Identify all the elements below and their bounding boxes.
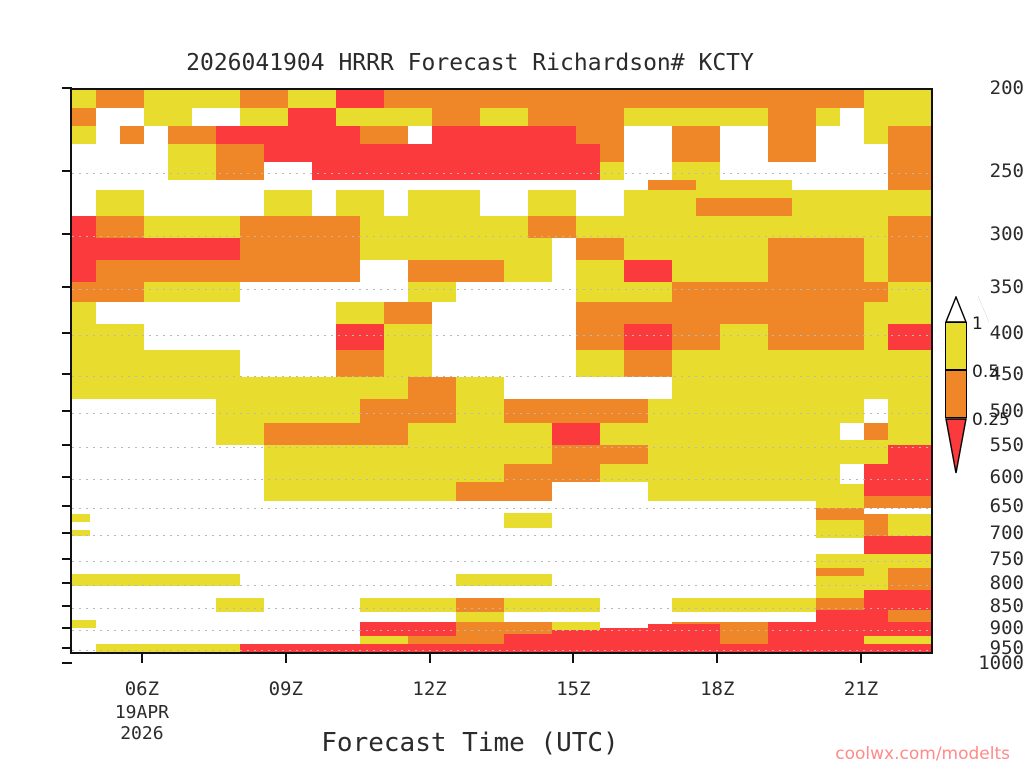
heatmap-cell xyxy=(144,377,192,399)
heatmap-cell xyxy=(360,482,408,501)
heatmap-cell xyxy=(192,644,240,654)
heatmap-cell xyxy=(672,260,720,282)
heatmap-cell xyxy=(384,126,408,144)
heatmap-cell xyxy=(72,216,96,238)
time-tick-label: 18Z xyxy=(682,678,752,700)
pressure-tick-mark xyxy=(62,647,72,649)
heatmap-cell xyxy=(864,260,888,282)
time-tick-label: 21Z xyxy=(826,678,896,700)
heatmap-cell xyxy=(696,399,744,423)
heatmap-cell xyxy=(504,260,552,282)
time-tick-mark xyxy=(716,654,718,663)
heatmap-cell xyxy=(264,144,312,162)
heatmap-cell xyxy=(408,598,456,612)
heatmap-cell xyxy=(72,302,96,324)
pressure-tick-mark xyxy=(62,605,72,607)
heatmap-cell xyxy=(864,622,888,636)
heatmap-cell xyxy=(456,464,504,482)
pressure-tick-mark xyxy=(62,558,72,560)
heatmap-cell xyxy=(144,216,240,238)
heatmap-cell xyxy=(384,324,432,350)
heatmap-cell xyxy=(384,644,432,654)
richardson-number-colorbar[interactable]: 10.50.25 xyxy=(938,296,1024,488)
heatmap-cell xyxy=(336,644,384,654)
heatmap-cell xyxy=(720,238,768,260)
heatmap-cell xyxy=(672,598,720,612)
heatmap-cell xyxy=(216,598,264,612)
heatmap-cell xyxy=(696,464,744,482)
heatmap-cell xyxy=(360,464,408,482)
heatmap-cell xyxy=(408,464,456,482)
pressure-tick-mark xyxy=(62,87,72,89)
heatmap-cell xyxy=(888,445,933,464)
colorbar-lower-cap xyxy=(945,418,967,474)
heatmap-cell xyxy=(192,377,264,399)
page-title: 2026041904 HRRR Forecast Richardson# KCT… xyxy=(0,50,940,76)
heatmap-cell xyxy=(408,445,456,464)
heatmap-cell xyxy=(816,508,864,520)
pressure-tick-label: 850 xyxy=(960,595,1024,617)
heatmap-cell xyxy=(360,445,408,464)
heatmap-cell xyxy=(816,377,864,399)
time-tick-mark xyxy=(860,654,862,663)
heatmap-cell xyxy=(504,238,552,260)
heatmap-cell xyxy=(720,324,768,350)
heatmap-cell xyxy=(816,644,864,654)
heatmap-cell xyxy=(672,108,768,126)
heatmap-cell xyxy=(384,350,432,377)
heatmap-cell xyxy=(672,377,720,399)
heatmap-cell xyxy=(336,302,384,324)
heatmap-cell xyxy=(240,90,288,108)
heatmap-cell xyxy=(768,144,816,162)
chart-canvas: 2026041904 HRRR Forecast Richardson# KCT… xyxy=(0,0,1024,768)
heatmap-cell xyxy=(96,644,144,654)
heatmap-cell xyxy=(264,126,312,144)
heatmap-cell xyxy=(672,144,720,162)
heatmap-cell xyxy=(192,574,240,586)
heatmap-cell xyxy=(456,445,504,464)
heatmap-cell xyxy=(312,126,360,144)
heatmap-cell xyxy=(768,126,816,144)
colorbar-upper-cap-outline xyxy=(945,296,967,322)
heatmap-cell xyxy=(672,126,720,144)
heatmap-cell xyxy=(768,108,816,126)
heatmap-cell xyxy=(360,126,384,144)
heatmap-cell xyxy=(864,126,888,144)
heatmap-cell xyxy=(768,238,816,260)
heatmap-cell xyxy=(648,624,720,644)
heatmap-cell xyxy=(504,598,552,612)
heatmap-cell xyxy=(888,568,933,590)
heatmap-cell xyxy=(384,108,432,126)
time-tick-label: 09Z xyxy=(251,678,321,700)
heatmap-cell xyxy=(72,514,90,522)
heatmap-cell xyxy=(72,530,90,536)
heatmap-cell xyxy=(816,350,864,377)
time-tick-label: 06Z xyxy=(107,678,177,700)
heatmap-cell xyxy=(144,238,192,260)
heatmap-cell xyxy=(192,238,240,260)
heatmap-cell xyxy=(264,377,312,399)
heatmap-cell xyxy=(216,144,264,162)
heatmap-cell xyxy=(264,482,312,501)
heatmap-cell xyxy=(528,216,576,238)
heatmap-cell xyxy=(864,324,888,350)
pressure-tick-label: 900 xyxy=(960,617,1024,639)
heatmap-cell xyxy=(504,464,552,482)
heatmap-cell xyxy=(816,282,864,302)
heatmap-cell xyxy=(408,282,456,302)
pressure-tick-mark xyxy=(62,444,72,446)
heatmap-cell xyxy=(456,162,504,180)
heatmap-cell xyxy=(576,216,624,238)
heatmap-cell xyxy=(816,216,864,238)
heatmap-cell xyxy=(792,399,840,423)
heatmap-cell xyxy=(864,514,888,536)
pressure-tick-label: 250 xyxy=(960,160,1024,182)
heatmap-cell xyxy=(312,423,360,445)
heatmap-cell xyxy=(768,636,816,644)
heatmap-cell xyxy=(408,144,456,162)
heatmap-cell xyxy=(888,216,933,238)
pressure-tick-mark xyxy=(62,233,72,235)
heatmap-cell xyxy=(624,324,672,350)
heatmap-cell xyxy=(168,126,216,144)
heatmap-cell xyxy=(768,302,816,324)
heatmap-cell xyxy=(864,302,888,324)
heatmap-cell xyxy=(216,126,264,144)
heatmap-cell xyxy=(72,238,96,260)
heatmap-cell xyxy=(624,302,672,324)
heatmap-cell xyxy=(96,377,144,399)
pressure-tick-label: 200 xyxy=(960,77,1024,99)
heatmap-cell xyxy=(744,180,792,198)
heatmap-cell xyxy=(720,598,768,612)
heatmap-cell xyxy=(168,162,216,180)
heatmap-cell xyxy=(312,399,360,423)
heatmap-cell xyxy=(528,108,624,126)
heatmap-cell xyxy=(240,108,288,126)
heatmap-cell xyxy=(360,216,408,238)
heatmap-cell xyxy=(600,162,624,180)
heatmap-cell xyxy=(672,302,720,324)
heatmap-cell xyxy=(456,399,504,423)
heatmap-cell xyxy=(96,90,144,108)
heatmap-cell xyxy=(96,350,144,377)
heatmap-cell xyxy=(768,377,816,399)
heatmap-cell xyxy=(576,302,624,324)
heatmap-cell xyxy=(312,162,360,180)
heatmap-cell xyxy=(216,423,264,445)
heatmap-cell xyxy=(744,464,792,482)
heatmap-cell xyxy=(624,282,672,302)
heatmap-cell xyxy=(624,216,720,238)
heatmap-cell xyxy=(72,620,96,628)
heatmap-plot-area[interactable] xyxy=(70,88,933,654)
pressure-tick-mark xyxy=(62,476,72,478)
heatmap-cell xyxy=(504,90,624,108)
heatmap-cell xyxy=(888,260,933,282)
heatmap-cell xyxy=(816,108,840,126)
heatmap-cell xyxy=(552,464,600,482)
heatmap-cell xyxy=(576,126,624,144)
heatmap-cell xyxy=(168,144,216,162)
heatmap-cell xyxy=(456,574,504,586)
heatmap-cell xyxy=(864,536,888,554)
heatmap-cell xyxy=(408,190,480,216)
heatmap-cell xyxy=(72,282,96,302)
attribution-link[interactable]: coolwx.com/modelts xyxy=(835,744,1010,764)
heatmap-cell xyxy=(408,377,456,399)
heatmap-cell xyxy=(816,610,864,622)
heatmap-cell xyxy=(864,636,933,644)
heatmap-cell xyxy=(360,636,408,644)
heatmap-cell xyxy=(576,282,624,302)
heatmap-cell xyxy=(408,260,456,282)
pressure-tick-mark xyxy=(62,170,72,172)
heatmap-cell xyxy=(888,162,933,180)
heatmap-cell xyxy=(600,464,648,482)
heatmap-cell xyxy=(744,445,792,464)
heatmap-cell xyxy=(864,644,888,654)
heatmap-cell xyxy=(888,350,933,377)
heatmap-cell xyxy=(72,108,96,126)
heatmap-cell xyxy=(456,144,504,162)
heatmap-cell xyxy=(240,644,288,654)
heatmap-cell xyxy=(552,423,600,445)
colorbar-tick-label: 0.5 xyxy=(972,362,999,382)
heatmap-cell xyxy=(816,496,864,508)
heatmap-cell xyxy=(888,324,933,350)
heatmap-cell xyxy=(816,238,864,260)
heatmap-cell xyxy=(144,644,192,654)
heatmap-cell xyxy=(696,90,792,108)
heatmap-cell xyxy=(720,282,768,302)
heatmap-cell xyxy=(96,190,144,216)
heatmap-cell xyxy=(312,464,360,482)
heatmap-cell xyxy=(240,216,360,238)
heatmap-cell xyxy=(72,574,96,586)
colorbar-segment[interactable] xyxy=(945,370,967,418)
heatmap-cell xyxy=(144,90,240,108)
heatmap-cell xyxy=(888,423,933,445)
heatmap-cell xyxy=(720,622,768,636)
heatmap-cell xyxy=(648,445,696,464)
heatmap-cell xyxy=(672,350,720,377)
heatmap-cell xyxy=(840,399,864,423)
heatmap-cell xyxy=(744,482,792,501)
heatmap-cell xyxy=(408,399,456,423)
heatmap-cell xyxy=(288,90,336,108)
pressure-tick-mark xyxy=(62,505,72,507)
heatmap-cell xyxy=(888,536,933,554)
heatmap-cell xyxy=(480,644,528,654)
heatmap-cell xyxy=(504,634,552,644)
heatmap-cell xyxy=(864,496,888,508)
heatmap-cell xyxy=(504,445,552,464)
heatmap-cell xyxy=(456,423,504,445)
heatmap-cell xyxy=(456,377,504,399)
heatmap-cell xyxy=(768,350,816,377)
pressure-tick-mark xyxy=(62,582,72,584)
heatmap-cell xyxy=(888,622,933,636)
heatmap-cell xyxy=(456,636,504,644)
heatmap-cell xyxy=(744,399,792,423)
heatmap-cell xyxy=(600,445,648,464)
pressure-tick-mark xyxy=(62,532,72,534)
heatmap-cell xyxy=(408,482,456,501)
heatmap-cell xyxy=(120,126,144,144)
pressure-tick-mark xyxy=(62,373,72,375)
heatmap-cell xyxy=(408,216,456,238)
heatmap-cell xyxy=(408,622,456,636)
heatmap-cell xyxy=(96,574,144,586)
heatmap-cell xyxy=(864,90,933,108)
heatmap-cell xyxy=(408,238,456,260)
heatmap-cell xyxy=(264,399,312,423)
time-tick-mark xyxy=(141,654,143,663)
heatmap-cell xyxy=(864,282,888,302)
heatmap-cell xyxy=(576,238,624,260)
heatmap-cell xyxy=(864,238,888,260)
heatmap-cell xyxy=(504,423,552,445)
heatmap-cell xyxy=(648,399,696,423)
heatmap-cell xyxy=(528,644,576,654)
heatmap-cell xyxy=(456,612,504,622)
heatmap-cell xyxy=(264,464,312,482)
heatmap-cell xyxy=(888,144,933,162)
heatmap-cell xyxy=(864,216,888,238)
pressure-tick-label: 350 xyxy=(960,276,1024,298)
heatmap-cell xyxy=(96,238,144,260)
heatmap-cell xyxy=(72,377,96,399)
pressure-tick-mark xyxy=(62,627,72,629)
heatmap-cell xyxy=(624,238,720,260)
heatmap-cell xyxy=(96,216,144,238)
heatmap-cell xyxy=(720,302,768,324)
heatmap-cell xyxy=(312,144,360,162)
heatmap-cell xyxy=(144,350,192,377)
heatmap-cell xyxy=(552,162,600,180)
heatmap-cell xyxy=(480,108,528,126)
heatmap-cell xyxy=(912,108,933,126)
heatmap-cell xyxy=(696,198,792,216)
heatmap-cell xyxy=(768,216,816,238)
heatmap-cell xyxy=(816,622,864,636)
heatmap-cell xyxy=(264,445,312,464)
heatmap-cell xyxy=(480,126,528,144)
colorbar-tick-label: 0.25 xyxy=(972,410,1010,430)
heatmap-cell xyxy=(552,399,600,423)
heatmap-cell xyxy=(576,324,624,350)
pressure-tick-label: 700 xyxy=(960,522,1024,544)
heatmap-cell xyxy=(888,399,933,423)
heatmap-cell xyxy=(888,496,933,508)
heatmap-cell xyxy=(816,520,864,530)
heatmap-cell xyxy=(216,162,264,180)
heatmap-cell xyxy=(768,282,816,302)
heatmap-cell xyxy=(672,324,720,350)
heatmap-cell xyxy=(792,90,864,108)
heatmap-cell xyxy=(768,260,816,282)
heatmap-cell xyxy=(360,377,408,399)
heatmap-cell xyxy=(264,190,312,216)
heatmap-cell xyxy=(552,445,600,464)
heatmap-cell xyxy=(768,622,816,636)
heatmap-cell xyxy=(768,598,816,612)
heatmap-cell xyxy=(648,423,696,445)
heatmap-cell xyxy=(72,350,96,377)
heatmap-cell xyxy=(504,574,552,586)
heatmap-cell xyxy=(672,644,720,654)
heatmap-cell xyxy=(456,622,504,636)
heatmap-cell xyxy=(72,126,96,144)
heatmap-cell xyxy=(864,108,912,126)
heatmap-cell xyxy=(72,90,96,108)
heatmap-cell xyxy=(864,350,888,377)
heatmap-cell xyxy=(528,126,576,144)
heatmap-cell xyxy=(360,622,408,636)
heatmap-cell xyxy=(672,282,720,302)
heatmap-cell xyxy=(408,162,456,180)
colorbar-segment[interactable] xyxy=(945,322,967,370)
heatmap-cell xyxy=(864,610,888,622)
heatmap-cell xyxy=(768,324,816,350)
heatmap-cell xyxy=(192,350,240,377)
heatmap-cell xyxy=(600,423,648,445)
heatmap-cell xyxy=(888,610,933,622)
heatmap-cell xyxy=(816,636,864,644)
heatmap-cell xyxy=(816,538,864,554)
heatmap-cell xyxy=(360,423,408,445)
heatmap-cell xyxy=(504,399,552,423)
heatmap-cell xyxy=(888,282,933,302)
heatmap-cell xyxy=(144,574,192,586)
heatmap-cell xyxy=(576,260,624,282)
heatmap-cell xyxy=(600,628,648,644)
heatmap-cell xyxy=(720,216,768,238)
pressure-tick-mark xyxy=(62,662,72,664)
heatmap-cell xyxy=(888,598,933,610)
heatmap-cell xyxy=(360,144,408,162)
heatmap-cell xyxy=(624,350,672,377)
heatmap-cell xyxy=(696,445,744,464)
heatmap-cell xyxy=(144,260,240,282)
heatmap-cell xyxy=(96,324,144,350)
heatmap-cell xyxy=(600,399,648,423)
heatmap-cell xyxy=(312,482,360,501)
heatmap-cell xyxy=(504,513,552,528)
heatmap-cell xyxy=(792,464,840,482)
time-tick-label: 12Z xyxy=(395,678,465,700)
heatmap-cell xyxy=(816,484,864,496)
heatmap-cell xyxy=(432,108,480,126)
pressure-tick-label: 750 xyxy=(960,548,1024,570)
heatmap-cell xyxy=(720,260,768,282)
heatmap-cell xyxy=(720,636,768,644)
heatmap-cell xyxy=(888,644,933,654)
heatmap-cell xyxy=(336,350,384,377)
heatmap-cell xyxy=(384,302,432,324)
heatmap-cell xyxy=(624,260,672,282)
heatmap-cell-layer xyxy=(72,90,931,652)
heatmap-cell xyxy=(816,302,864,324)
heatmap-cell xyxy=(696,423,744,445)
pressure-tick-label: 1000 xyxy=(960,652,1024,674)
heatmap-cell xyxy=(888,464,933,482)
heatmap-cell xyxy=(408,423,456,445)
